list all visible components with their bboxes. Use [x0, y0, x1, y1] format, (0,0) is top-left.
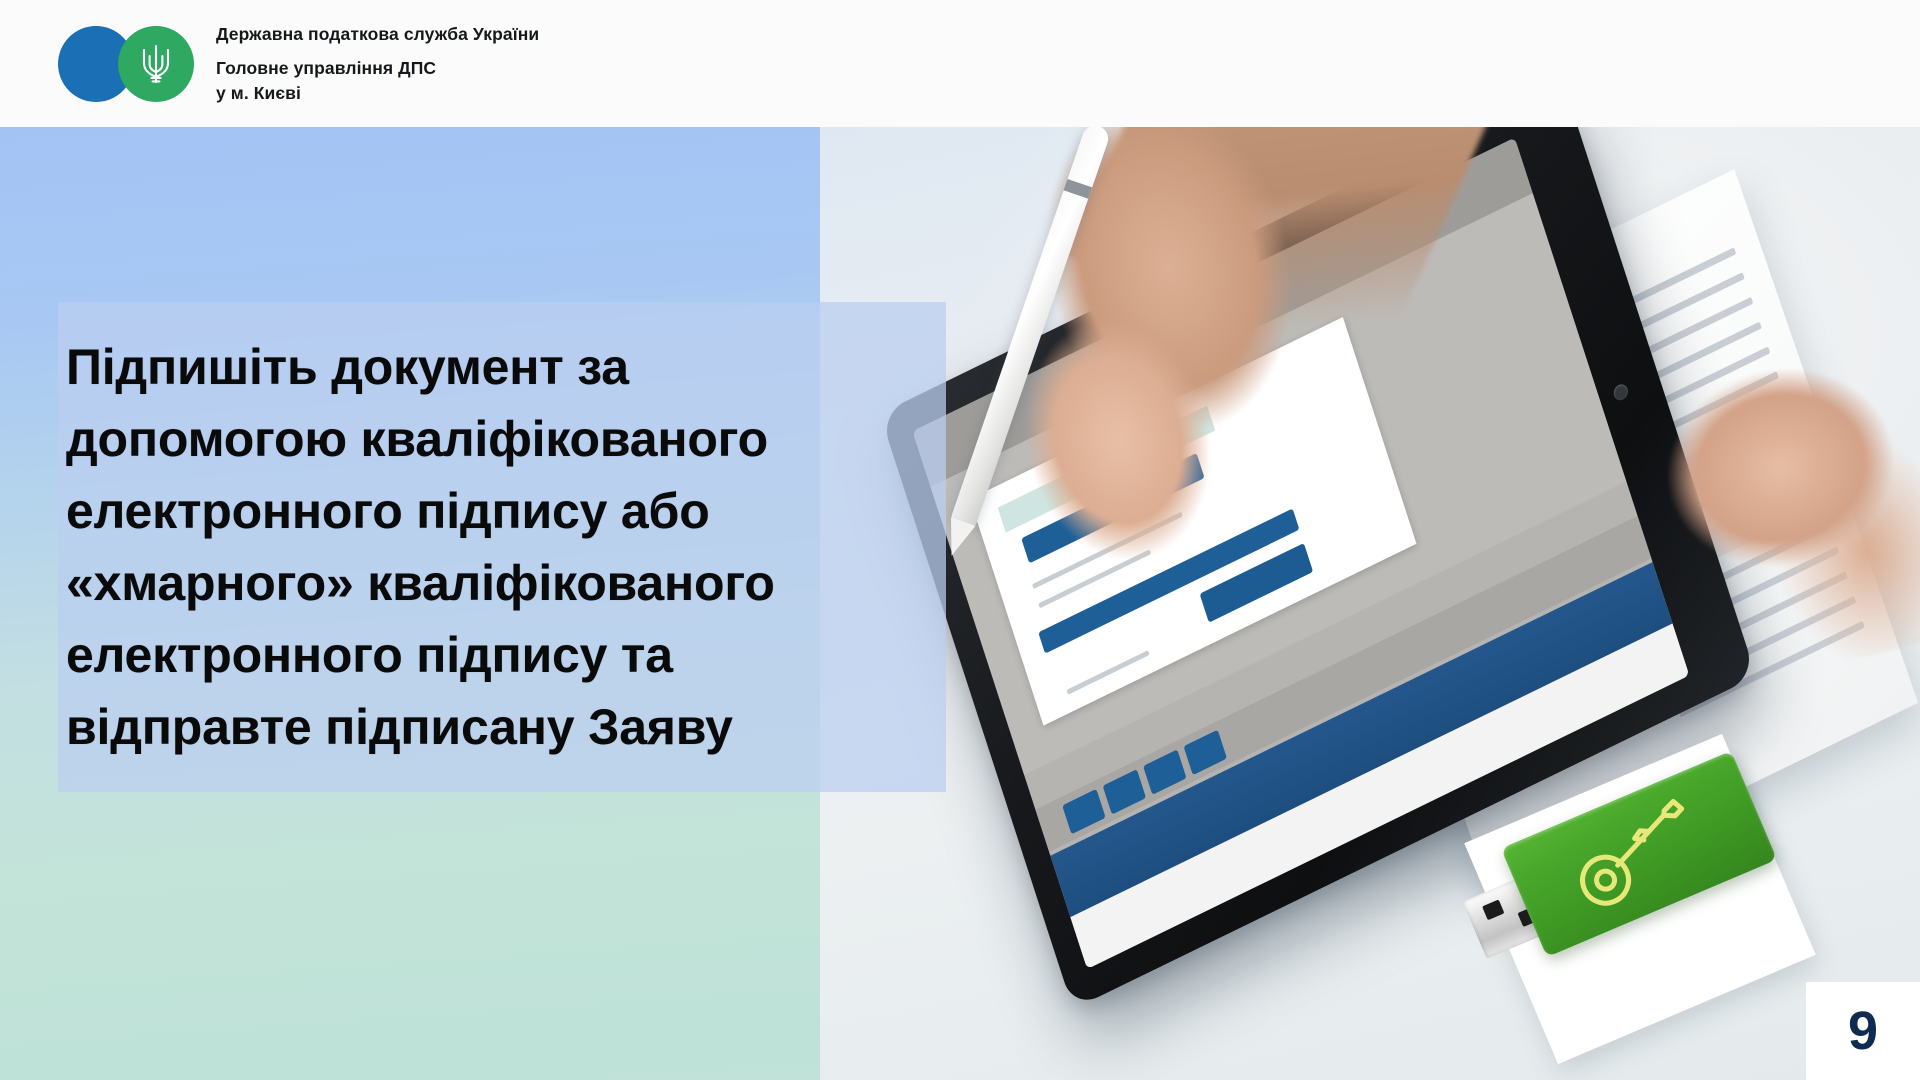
org-name-line-1: Державна податкова служба України: [216, 22, 539, 47]
logo-green-circle-icon: [118, 26, 194, 102]
headline-line-6: відправте підписану Заяву: [66, 691, 775, 763]
headline-panel: Підпишіть документ за допомогою кваліфік…: [58, 302, 946, 792]
headline-line-2: допомогою кваліфікованого: [66, 403, 775, 475]
org-name-line-2: Головне управління ДПС: [216, 56, 539, 81]
page-title: Підпишіть документ за допомогою кваліфік…: [66, 331, 775, 763]
organization-title-block: Державна податкова служба України Головн…: [216, 22, 539, 106]
headline-line-1: Підпишіть документ за: [66, 331, 775, 403]
headline-line-3: електронного підпису або: [66, 475, 775, 547]
page-number-badge: 9: [1806, 982, 1920, 1080]
page-number: 9: [1848, 1004, 1878, 1058]
headline-line-5: електронного підпису та: [66, 619, 775, 691]
organization-logo: [58, 26, 194, 102]
headline-line-4: «хмарного» кваліфікованого: [66, 547, 775, 619]
ukraine-trident-icon: [139, 42, 173, 86]
org-name-line-3: у м. Києві: [216, 81, 539, 106]
slide-root: Державна податкова служба України Головн…: [0, 0, 1920, 1080]
slide-header: Державна податкова служба України Головн…: [0, 0, 1920, 127]
